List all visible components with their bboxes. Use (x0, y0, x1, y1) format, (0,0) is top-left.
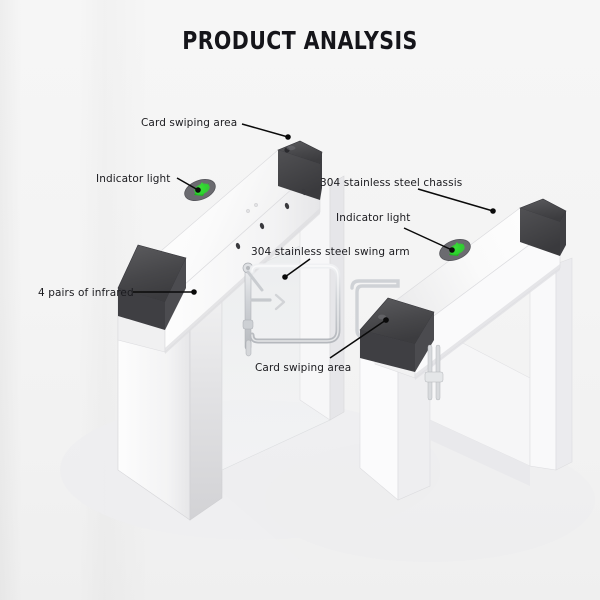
label-indicator-light-left: Indicator light (96, 173, 171, 185)
product-analysis-diagram: PRODUCT ANALYSIS (0, 0, 600, 600)
turnstile-illustration (0, 0, 600, 600)
label-card-swiping-area-right: Card swiping area (255, 362, 351, 374)
leader-chassis (418, 189, 496, 214)
right-pedestal (360, 199, 572, 500)
label-swing-arm: 304 stainless steel swing arm (251, 246, 410, 258)
label-chassis: 304 stainless steel chassis (320, 177, 462, 189)
label-infrared: 4 pairs of infrared (38, 287, 134, 299)
label-indicator-light-right: Indicator light (336, 212, 411, 224)
label-card-swiping-area-left: Card swiping area (141, 117, 237, 129)
leader-card-swiping-area-left (242, 124, 291, 140)
